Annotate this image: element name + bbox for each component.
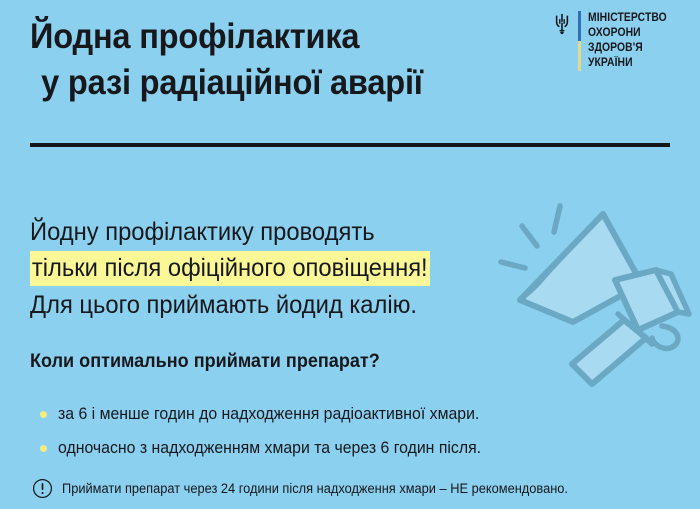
list-item: за 6 і менше годин до надходження радіоа… <box>40 404 600 425</box>
logo-text-line-2: ОХОРОНИ <box>588 26 667 41</box>
megaphone-trigger <box>652 326 678 348</box>
page-title: Йодна профілактика у разі радіаційної ав… <box>30 14 550 106</box>
megaphone-rim <box>520 214 603 300</box>
warning-note: Приймати препарат через 24 години після … <box>32 478 595 499</box>
list-item-label: одночасно з надходженням хмари та через … <box>58 438 481 459</box>
title-line-2: у разі радіаційної аварії <box>30 60 514 106</box>
statement-highlight: тільки після офіційного оповіщення! <box>30 251 430 286</box>
statement-line-2: тільки після офіційного оповіщення! <box>30 251 477 285</box>
exclamation-circle-icon <box>32 478 53 499</box>
bullet-dot-icon <box>40 445 47 452</box>
logo-text-line-4: УКРАЇНИ <box>588 56 667 71</box>
megaphone-illustration <box>496 188 692 388</box>
logo-text-block: МІНІСТЕРСТВО ОХОРОНИ ЗДОРОВ'Я УКРАЇНИ <box>588 11 676 71</box>
question-heading: Коли оптимально приймати препарат? <box>30 350 380 374</box>
megaphone-ray-1 <box>554 206 560 232</box>
main-statement: Йодну профілактику проводять тільки післ… <box>30 215 500 322</box>
megaphone-collar <box>618 314 652 344</box>
megaphone-ray-2 <box>522 226 537 246</box>
ministry-logo: МІНІСТЕРСТВО ОХОРОНИ ЗДОРОВ'Я УКРАЇНИ <box>553 11 676 71</box>
statement-line-1: Йодну профілактику проводять <box>30 215 477 249</box>
megaphone-cap <box>656 270 689 314</box>
title-line-1: Йодна профілактика <box>30 14 514 60</box>
list-item-label: за 6 і менше годин до надходження радіоа… <box>58 404 479 425</box>
logo-text-line-3: ЗДОРОВ'Я <box>588 41 667 56</box>
logo-text-line-1: МІНІСТЕРСТВО <box>588 11 667 26</box>
megaphone-horn <box>520 214 642 322</box>
megaphone-handle <box>572 320 646 384</box>
logo-divider-bar <box>578 11 581 71</box>
header-divider <box>30 143 670 147</box>
megaphone-ray-3 <box>501 262 525 268</box>
infographic-poster: Йодна профілактика у разі радіаційної ав… <box>0 0 700 509</box>
megaphone-body <box>615 270 678 330</box>
bullet-dot-icon <box>40 411 47 418</box>
ukrainian-trident-icon <box>553 13 571 35</box>
warning-note-text: Приймати препарат через 24 години після … <box>62 480 568 498</box>
statement-line-3: Для цього приймають йодид калію. <box>30 288 477 322</box>
list-item: одночасно з надходженням хмари та через … <box>40 438 600 459</box>
timing-bullet-list: за 6 і менше годин до надходження радіоа… <box>40 404 600 472</box>
